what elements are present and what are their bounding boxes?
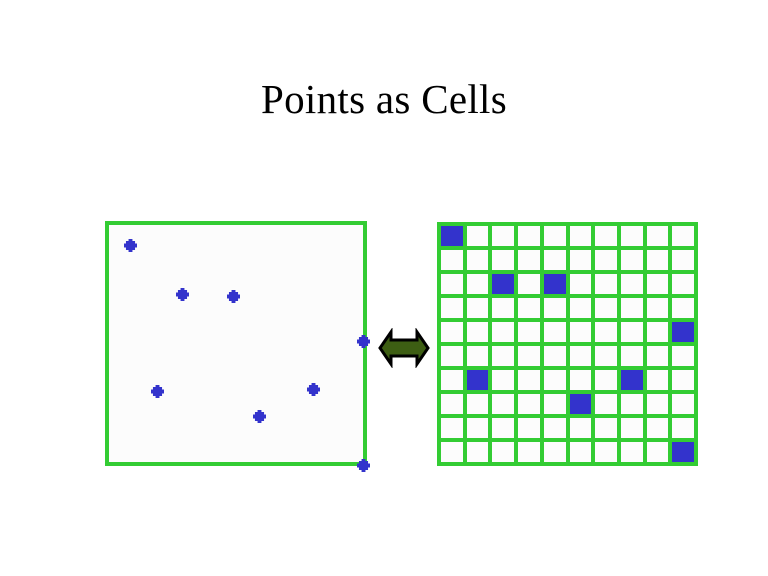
grid-cell-empty	[621, 322, 643, 342]
grid-cell-empty	[647, 418, 669, 438]
grid-cell-empty	[544, 394, 566, 414]
grid-cell-empty	[544, 226, 566, 246]
grid-cell-empty	[595, 394, 617, 414]
grid-cell-empty	[467, 322, 489, 342]
grid-cell-empty	[518, 298, 540, 318]
grid-cell-empty	[621, 442, 643, 462]
grid-cell-empty	[518, 346, 540, 366]
grid-cell-empty	[518, 370, 540, 390]
grid-cell-empty	[595, 322, 617, 342]
grid-cell-empty	[492, 250, 514, 270]
grid-cell-empty	[595, 442, 617, 462]
grid-cell-empty	[570, 370, 592, 390]
grid-cell-filled	[570, 394, 592, 414]
grid-cell-empty	[492, 298, 514, 318]
grid-cell-empty	[492, 226, 514, 246]
grid-cell-empty	[518, 418, 540, 438]
grid-cell-empty	[441, 370, 463, 390]
grid-cell-empty	[467, 274, 489, 294]
grid-cell-empty	[621, 274, 643, 294]
slide-canvas: Points as Cells	[0, 0, 768, 576]
grid-cell-empty	[544, 346, 566, 366]
grid-cell-empty	[621, 250, 643, 270]
grid-cell-empty	[441, 274, 463, 294]
grid-cell-empty	[492, 346, 514, 366]
grid-cell-empty	[672, 418, 694, 438]
grid-cell-filled	[441, 226, 463, 246]
grid-cell-empty	[544, 250, 566, 270]
grid-cell-empty	[467, 250, 489, 270]
grid-cell-empty	[621, 346, 643, 366]
diamond-point-marker	[176, 288, 189, 301]
grid-cell-empty	[467, 226, 489, 246]
grid-cell-empty	[518, 322, 540, 342]
grid-cell-empty	[647, 298, 669, 318]
grid-cell-empty	[441, 322, 463, 342]
grid-cell-filled	[544, 274, 566, 294]
diamond-point-marker	[227, 290, 240, 303]
point-cloud-panel	[105, 221, 367, 466]
grid-cell-empty	[672, 394, 694, 414]
grid-cell-filled	[621, 370, 643, 390]
grid-cell-empty	[647, 226, 669, 246]
grid-cell-empty	[441, 346, 463, 366]
grid-cell-empty	[595, 226, 617, 246]
grid-cell-empty	[570, 418, 592, 438]
grid-cell-empty	[467, 346, 489, 366]
grid-cell-empty	[595, 298, 617, 318]
grid-cell-empty	[672, 298, 694, 318]
diamond-point-marker	[253, 410, 266, 423]
grid-cell-filled	[672, 322, 694, 342]
grid-cell-empty	[647, 394, 669, 414]
grid-cell-empty	[570, 250, 592, 270]
grid-cell-empty	[595, 250, 617, 270]
grid-cell-empty	[570, 442, 592, 462]
grid-cell-empty	[518, 394, 540, 414]
grid-cell-empty	[544, 370, 566, 390]
grid-cell-empty	[441, 298, 463, 318]
grid-cell-empty	[518, 442, 540, 462]
grid-cell-empty	[467, 298, 489, 318]
grid-cell-empty	[595, 274, 617, 294]
grid-cell-empty	[621, 394, 643, 414]
grid-cell-empty	[672, 250, 694, 270]
grid-cell-empty	[518, 250, 540, 270]
grid-cell-empty	[621, 226, 643, 246]
left-right-arrow-icon	[378, 328, 430, 368]
grid-cell-empty	[441, 442, 463, 462]
grid-cell-empty	[647, 442, 669, 462]
grid-cell-empty	[570, 298, 592, 318]
grid-cell-empty	[647, 346, 669, 366]
grid-cell-empty	[672, 274, 694, 294]
grid-cell-empty	[492, 418, 514, 438]
grid-cell-empty	[518, 274, 540, 294]
grid-cell-empty	[570, 346, 592, 366]
arrow-shape	[380, 332, 428, 364]
grid-cell-empty	[441, 250, 463, 270]
grid-cell-empty	[467, 442, 489, 462]
grid-cell-empty	[621, 418, 643, 438]
grid-cell-empty	[492, 370, 514, 390]
page-title: Points as Cells	[0, 74, 768, 124]
grid-cell-empty	[672, 226, 694, 246]
left-right-arrow-svg	[378, 328, 430, 368]
diamond-point-marker	[307, 383, 320, 396]
grid-cell-empty	[570, 322, 592, 342]
grid-cell-empty	[467, 394, 489, 414]
grid-cell-empty	[672, 346, 694, 366]
grid-cell-empty	[595, 418, 617, 438]
grid-cell-filled	[492, 274, 514, 294]
grid-cell-empty	[647, 250, 669, 270]
grid-cell-empty	[647, 274, 669, 294]
cell-grid-panel	[437, 222, 698, 466]
grid-cell-empty	[492, 394, 514, 414]
grid-cell-empty	[672, 370, 694, 390]
grid-cell-empty	[492, 322, 514, 342]
grid-cell-filled	[672, 442, 694, 462]
grid-cell-empty	[518, 226, 540, 246]
grid-cell-empty	[647, 370, 669, 390]
grid-cell-empty	[595, 346, 617, 366]
grid-cell-empty	[621, 298, 643, 318]
grid-cell-empty	[570, 226, 592, 246]
grid-cell-empty	[570, 274, 592, 294]
grid-cell-empty	[544, 418, 566, 438]
grid-cell-empty	[492, 442, 514, 462]
grid-cell-empty	[647, 322, 669, 342]
grid-cell-empty	[544, 322, 566, 342]
diamond-point-marker	[124, 239, 137, 252]
grid-cell-empty	[441, 394, 463, 414]
grid-cell-empty	[467, 418, 489, 438]
diamond-point-marker	[151, 385, 164, 398]
diamond-point-marker	[357, 459, 370, 472]
grid-cell-empty	[544, 298, 566, 318]
grid-cell-empty	[441, 418, 463, 438]
grid-cell-empty	[544, 442, 566, 462]
grid-cell-empty	[595, 370, 617, 390]
diamond-point-marker	[357, 335, 370, 348]
grid-cell-filled	[467, 370, 489, 390]
